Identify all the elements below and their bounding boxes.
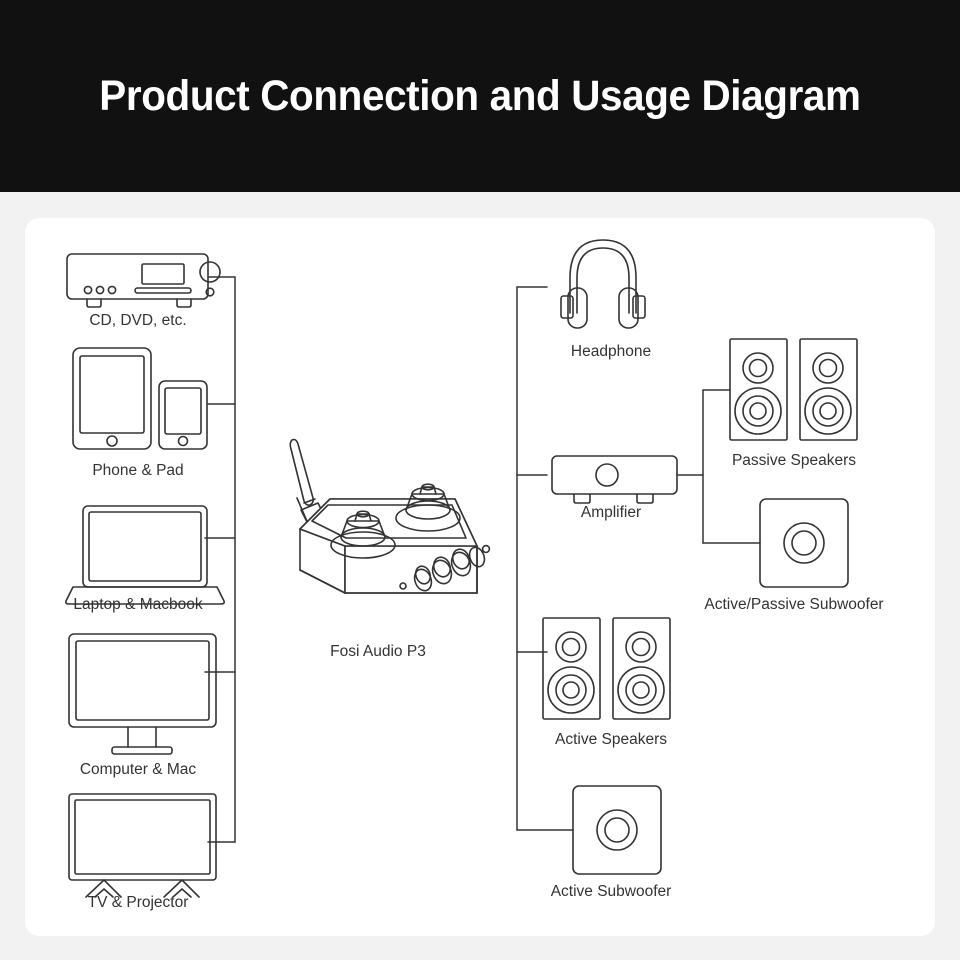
amplifier-icon [552, 456, 677, 503]
active-subwoofer-icon [573, 786, 661, 874]
diagram-card: CD, DVD, etc. Phone & Pad Laptop & Macbo… [25, 218, 935, 936]
label-tv-projector: TV & Projector [88, 894, 189, 912]
desktop-monitor-icon [69, 634, 216, 754]
laptop-icon [66, 506, 224, 604]
cd-player-icon [67, 254, 220, 307]
phone-tablet-icon [73, 348, 207, 449]
tv-icon [69, 794, 216, 897]
label-cd-dvd: CD, DVD, etc. [89, 312, 186, 330]
label-laptop: Laptop & Macbook [73, 596, 202, 614]
active-speaker-pair-icon [543, 618, 670, 719]
label-ap-subwoofer: Active/Passive Subwoofer [704, 596, 883, 614]
label-passive-speakers: Passive Speakers [732, 452, 856, 470]
headphone-icon [561, 240, 645, 328]
label-computer: Computer & Mac [80, 761, 196, 779]
label-active-subwoofer: Active Subwoofer [551, 883, 672, 901]
label-amplifier: Amplifier [581, 504, 641, 522]
passive-speaker-pair-icon [730, 339, 857, 440]
left-connector-bus [205, 277, 235, 842]
label-active-speakers: Active Speakers [555, 731, 667, 749]
audio-amplifier-isometric-icon [290, 440, 489, 594]
page-header: Product Connection and Usage Diagram [0, 0, 960, 192]
active-passive-subwoofer-icon [760, 499, 848, 587]
label-phone-pad: Phone & Pad [92, 462, 183, 480]
page-title: Product Connection and Usage Diagram [99, 72, 860, 121]
label-headphone: Headphone [571, 343, 651, 361]
label-fosi-audio-p3: Fosi Audio P3 [330, 643, 426, 661]
